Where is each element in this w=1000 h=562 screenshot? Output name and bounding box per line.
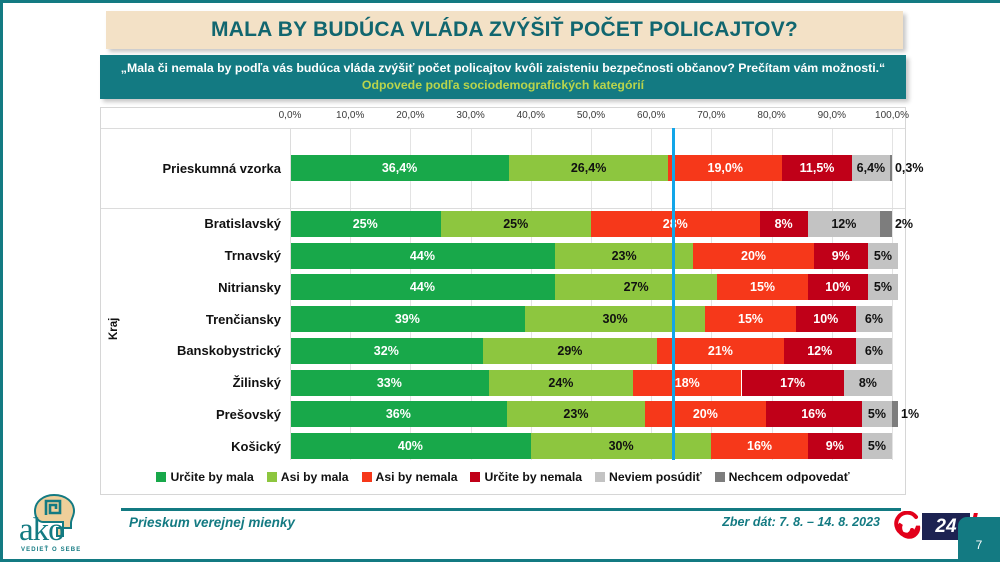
legend-label: Určite by nemala	[484, 470, 582, 484]
bar-segment: 20%	[645, 401, 765, 427]
table-row: Prieskumná vzorka36,4%26,4%19,0%11,5%6,4…	[101, 155, 905, 181]
bar-segment: 8%	[760, 211, 808, 237]
x-tick-label: 70,0%	[697, 110, 725, 121]
x-axis-ticks: 0,0%10,0%20,0%30,0%40,0%50,0%60,0%70,0%8…	[101, 108, 905, 128]
bar-segment: 12%	[808, 211, 880, 237]
table-row: Trnavský44%23%20%9%5%	[101, 243, 905, 269]
row-bar-track: 44%23%20%9%5%	[290, 243, 905, 269]
legend-item[interactable]: Určite by nemala	[470, 470, 582, 484]
bar-segment: 32%	[290, 338, 483, 364]
row-label: Bratislavský	[101, 216, 290, 231]
legend-swatch	[362, 472, 372, 482]
legend-label: Nechcem odpovedať	[729, 470, 850, 484]
row-bar-track: 40%30%16%9%5%	[290, 433, 905, 459]
ako-wordmark: ako	[19, 514, 64, 547]
page-number: 7	[976, 538, 983, 552]
bar-segment: 39%	[290, 306, 525, 332]
bar-segment: 20%	[693, 243, 813, 269]
bar-segment: 16%	[766, 401, 862, 427]
row-label: Žilinský	[101, 375, 290, 390]
row-label: Prešovský	[101, 407, 290, 422]
row-bar-track: 36,4%26,4%19,0%11,5%6,4%0,3%	[290, 155, 905, 181]
chart-legend: Určite by malaAsi by malaAsi by nemalaUr…	[101, 464, 905, 490]
x-tick-label: 90,0%	[818, 110, 846, 121]
label-gutter-divider	[290, 128, 291, 460]
chart-container: 0,0%10,0%20,0%30,0%40,0%50,0%60,0%70,0%8…	[100, 107, 906, 495]
x-tick-label: 20,0%	[396, 110, 424, 121]
x-tick-label: 80,0%	[757, 110, 785, 121]
row-label: Trenčiansky	[101, 312, 290, 327]
bar-segment: 30%	[531, 433, 712, 459]
bar-segment: 5%	[868, 243, 898, 269]
bar-segment: 5%	[868, 274, 898, 300]
bar-segment: 6,4%	[852, 155, 891, 181]
spiral-icon	[892, 511, 922, 541]
row-separator	[101, 208, 905, 209]
x-tick-label: 40,0%	[517, 110, 545, 121]
bar-value-label: 2%	[895, 217, 913, 231]
row-bar-track: 44%27%15%10%5%	[290, 274, 905, 300]
bar-segment: 26,4%	[509, 155, 668, 181]
table-row: Banskobystrický32%29%21%12%6%	[101, 338, 905, 364]
x-tick-label: 30,0%	[456, 110, 484, 121]
bar-segment: 24%	[489, 370, 633, 396]
bar-segment: 15%	[717, 274, 807, 300]
survey-question: „Mala či nemala by podľa vás budúca vlád…	[121, 61, 885, 76]
row-label: Košický	[101, 439, 290, 454]
legend-label: Určite by mala	[170, 470, 253, 484]
ako-logo: ako VEDIEŤ O SEBE	[13, 492, 117, 560]
footer-date-text: Zber dát: 7. 8. – 14. 8. 2023	[722, 515, 880, 529]
table-row: Žilinský33%24%18%17%8%	[101, 370, 905, 396]
x-tick-label: 100,0%	[875, 110, 909, 121]
bar-segment: 11,5%	[782, 155, 851, 181]
legend-swatch	[715, 472, 725, 482]
bar-segment: 23%	[507, 401, 645, 427]
legend-item[interactable]: Asi by nemala	[362, 470, 458, 484]
page-title: MALA BY BUDÚCA VLÁDA ZVÝŠIŤ POČET POLICA…	[211, 18, 798, 42]
bar-segment: 44%	[290, 243, 555, 269]
row-label: Banskobystrický	[101, 343, 290, 358]
bar-segment: 44%	[290, 274, 555, 300]
legend-item[interactable]: Asi by mala	[267, 470, 349, 484]
legend-item[interactable]: Neviem posúdiť	[595, 470, 702, 484]
bar-segment: 9%	[814, 243, 868, 269]
question-banner: „Mala či nemala by podľa vás budúca vlád…	[100, 55, 906, 99]
bar-segment: 10%	[796, 306, 856, 332]
bar-segment: 6%	[856, 306, 892, 332]
bar-value-label: 0,3%	[895, 161, 924, 175]
legend-label: Neviem posúdiť	[609, 470, 702, 484]
bar-segment: 15%	[705, 306, 795, 332]
bar-segment: 5%	[862, 433, 892, 459]
legend-label: Asi by nemala	[376, 470, 458, 484]
legend-item[interactable]: Nechcem odpovedať	[715, 470, 850, 484]
bar-segment: 12%	[784, 338, 856, 364]
bar-segment: 8%	[844, 370, 892, 396]
legend-label: Asi by mala	[281, 470, 349, 484]
bar-segment: 21%	[657, 338, 783, 364]
legend-swatch	[470, 472, 480, 482]
bar-segment: 2%	[880, 211, 892, 237]
row-label: Prieskumná vzorka	[101, 161, 290, 176]
legend-swatch	[595, 472, 605, 482]
bar-segment: 40%	[290, 433, 531, 459]
row-separator	[101, 128, 905, 129]
bar-segment: 16%	[711, 433, 807, 459]
table-row: Nitriansky44%27%15%10%5%	[101, 274, 905, 300]
bar-segment: 27%	[555, 274, 718, 300]
x-tick-label: 50,0%	[577, 110, 605, 121]
table-row: Trenčiansky39%30%15%10%6%	[101, 306, 905, 332]
bar-segment: 18%	[633, 370, 741, 396]
table-row: Košický40%30%16%9%5%	[101, 433, 905, 459]
bar-segment: 0,3%	[890, 155, 892, 181]
legend-swatch	[267, 472, 277, 482]
bar-segment: 5%	[862, 401, 892, 427]
row-bar-track: 36%23%20%16%5%1%	[290, 401, 905, 427]
bar-segment: 36,4%	[290, 155, 509, 181]
bar-segment: 6%	[856, 338, 892, 364]
x-tick-label: 10,0%	[336, 110, 364, 121]
plot-area: Prieskumná vzorka36,4%26,4%19,0%11,5%6,4…	[101, 128, 905, 460]
bar-segment: 9%	[808, 433, 862, 459]
row-bar-track: 39%30%15%10%6%	[290, 306, 905, 332]
row-label: Trnavský	[101, 248, 290, 263]
legend-swatch	[156, 472, 166, 482]
x-tick-label: 0,0%	[279, 110, 302, 121]
ako-tagline: VEDIEŤ O SEBE	[21, 547, 81, 553]
bar-segment: 19,0%	[668, 155, 782, 181]
slide: MALA BY BUDÚCA VLÁDA ZVÝŠIŤ POČET POLICA…	[0, 0, 1000, 562]
row-bar-track: 25%25%28%8%12%2%	[290, 211, 905, 237]
row-label: Nitriansky	[101, 280, 290, 295]
row-bar-track: 33%24%18%17%8%	[290, 370, 905, 396]
ta24-number: 24	[935, 517, 956, 536]
bar-segment: 1%	[892, 401, 898, 427]
bar-segment: 33%	[290, 370, 489, 396]
bar-segment: 25%	[441, 211, 592, 237]
bar-value-label: 1%	[901, 407, 919, 421]
table-row: Prešovský36%23%20%16%5%1%	[101, 401, 905, 427]
bar-segment: 25%	[290, 211, 441, 237]
row-bar-track: 32%29%21%12%6%	[290, 338, 905, 364]
bar-segment: 10%	[808, 274, 868, 300]
slide-title-box: MALA BY BUDÚCA VLÁDA ZVÝŠIŤ POČET POLICA…	[106, 11, 903, 49]
bar-segment: 17%	[742, 370, 844, 396]
legend-item[interactable]: Určite by mala	[156, 470, 253, 484]
bar-segment: 36%	[290, 401, 507, 427]
bar-segment: 28%	[591, 211, 760, 237]
marker-line	[672, 128, 675, 460]
bar-segment: 29%	[483, 338, 658, 364]
survey-subtitle: Odpovede podľa sociodemografických kateg…	[362, 78, 644, 93]
bar-rows: Prieskumná vzorka36,4%26,4%19,0%11,5%6,4…	[101, 128, 905, 460]
table-row: Bratislavský25%25%28%8%12%2%	[101, 211, 905, 237]
x-tick-label: 60,0%	[637, 110, 665, 121]
page-number-badge: 7	[958, 517, 1000, 559]
bar-segment: 30%	[525, 306, 706, 332]
footer-divider	[121, 508, 901, 511]
footer-left-text: Prieskum verejnej mienky	[129, 515, 295, 530]
